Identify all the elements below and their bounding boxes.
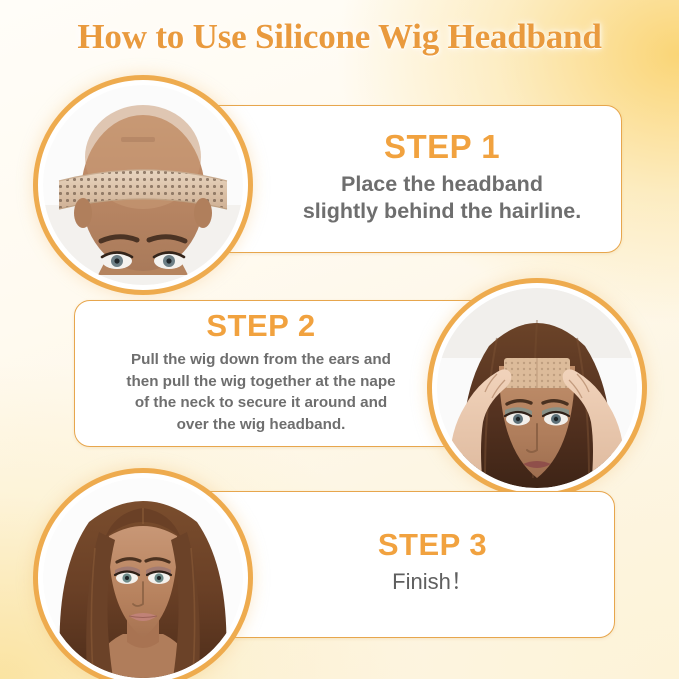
step-2-description-line: then pull the wig together at the nape [126,371,395,393]
step-1-label: STEP 1 [384,130,500,165]
step-1-image [43,85,243,285]
step-1-description-line: Place the headband [303,171,581,199]
step-3-label: STEP 3 [378,529,487,562]
page-title: How to Use Silicone Wig Headband [0,17,679,57]
step-3-description: Finish！ [392,568,473,596]
infographic-page: How to Use Silicone Wig Headband STEP 1 … [0,0,679,679]
step-1-description: Place the headband slightly behind the h… [303,171,581,226]
mannequin-head-with-headband-photo [43,85,243,285]
step-3-image [43,478,243,678]
step-2-description-line: over the wig headband. [126,414,395,436]
step-2-image [437,288,637,488]
step-1-description-line: slightly behind the hairline. [303,198,581,226]
step-2-description-line: of the neck to secure it around and [126,392,395,414]
step-2-text-block: STEP 2 Pull the wig down from the ears a… [75,301,447,446]
step-1-text-block: STEP 1 Place the headband slightly behin… [261,106,623,252]
step-2-description-line: Pull the wig down from the ears and [126,349,395,371]
step-3-description-line: Finish！ [392,568,473,596]
hands-pulling-wig-over-headband-photo [437,288,637,488]
step-3-text-block: STEP 3 Finish！ [249,492,616,637]
finished-wig-style-photo [43,478,243,678]
step-2-label: STEP 2 [206,310,315,343]
step-2-description: Pull the wig down from the ears and then… [126,349,395,435]
